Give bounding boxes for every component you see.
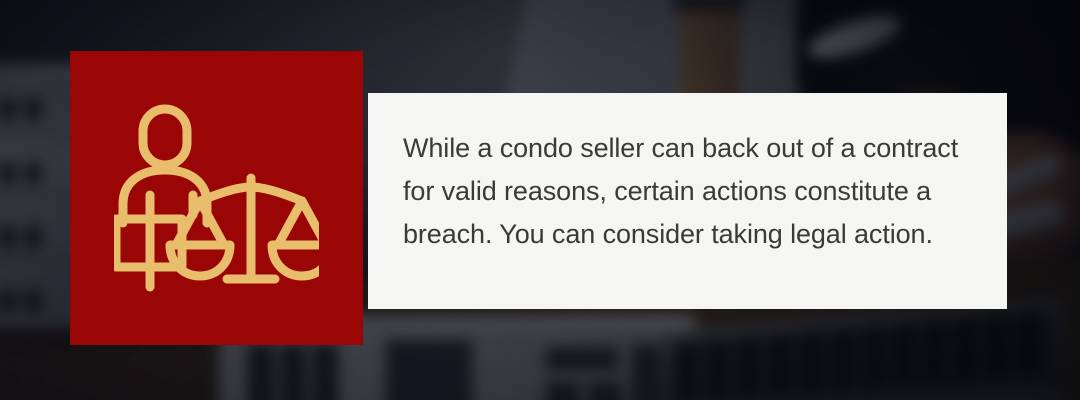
- person-head: [143, 109, 187, 165]
- justice-person-scales-icon: [114, 103, 319, 293]
- text-card: While a condo seller can back out of a c…: [368, 93, 1007, 309]
- icon-tile: [70, 51, 363, 345]
- legal-action-banner: While a condo seller can back out of a c…: [0, 0, 1080, 400]
- scales-right-pan: [272, 245, 319, 276]
- scales-right-strings: [278, 201, 319, 245]
- scales-left-strings: [176, 201, 224, 245]
- card-body-text: While a condo seller can back out of a c…: [403, 127, 963, 256]
